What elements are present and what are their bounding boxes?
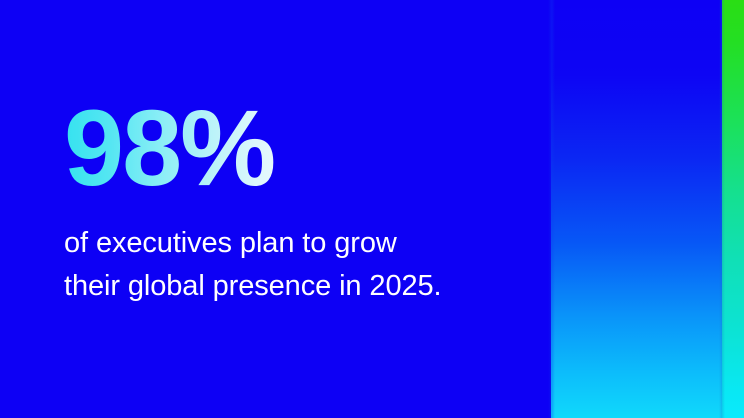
slide-content: 98% of executives plan to grow their glo…: [64, 96, 534, 308]
stat-figure: 98%: [64, 96, 274, 200]
stat-description-line-1: of executives plan to grow: [64, 222, 534, 265]
stat-slide: 98% of executives plan to grow their glo…: [0, 0, 744, 418]
stat-description: of executives plan to grow their global …: [64, 222, 534, 308]
stat-description-line-2: their global presence in 2025.: [64, 265, 534, 308]
edge-accent-strip-decoration: [722, 0, 744, 418]
gradient-panel-decoration: [551, 0, 722, 418]
